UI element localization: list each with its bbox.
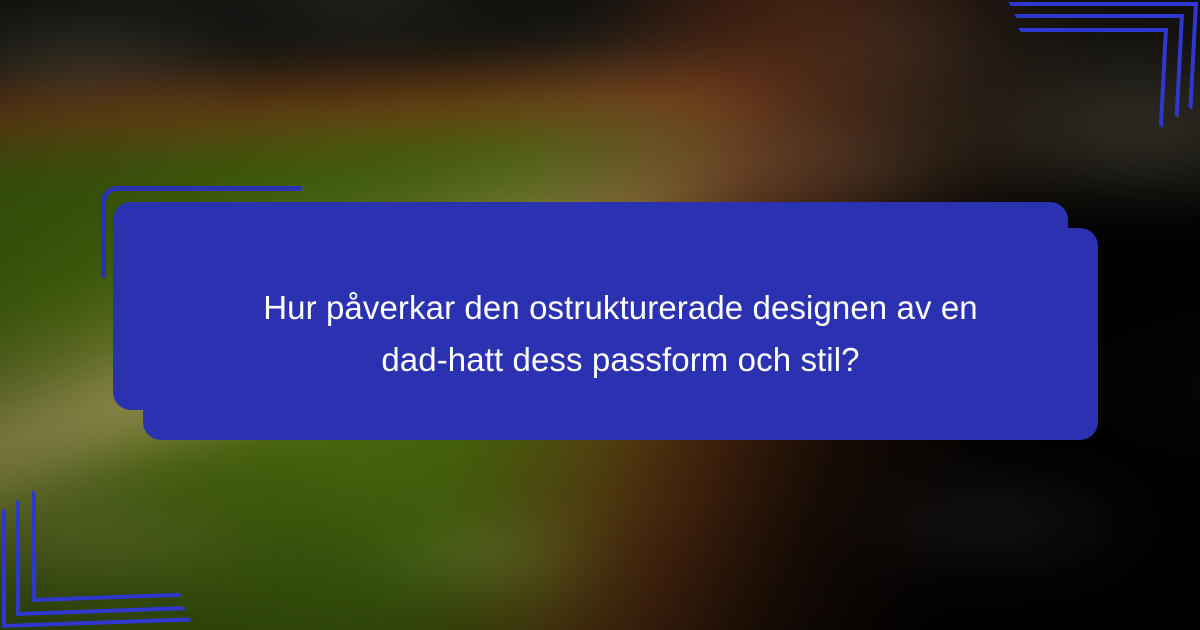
screenshot-canvas: Hur påverkar den ostrukturerade designen…: [0, 0, 1200, 630]
question-title: Hur påverkar den ostrukturerade designen…: [241, 282, 1001, 386]
question-card[interactable]: Hur påverkar den ostrukturerade designen…: [143, 228, 1098, 440]
